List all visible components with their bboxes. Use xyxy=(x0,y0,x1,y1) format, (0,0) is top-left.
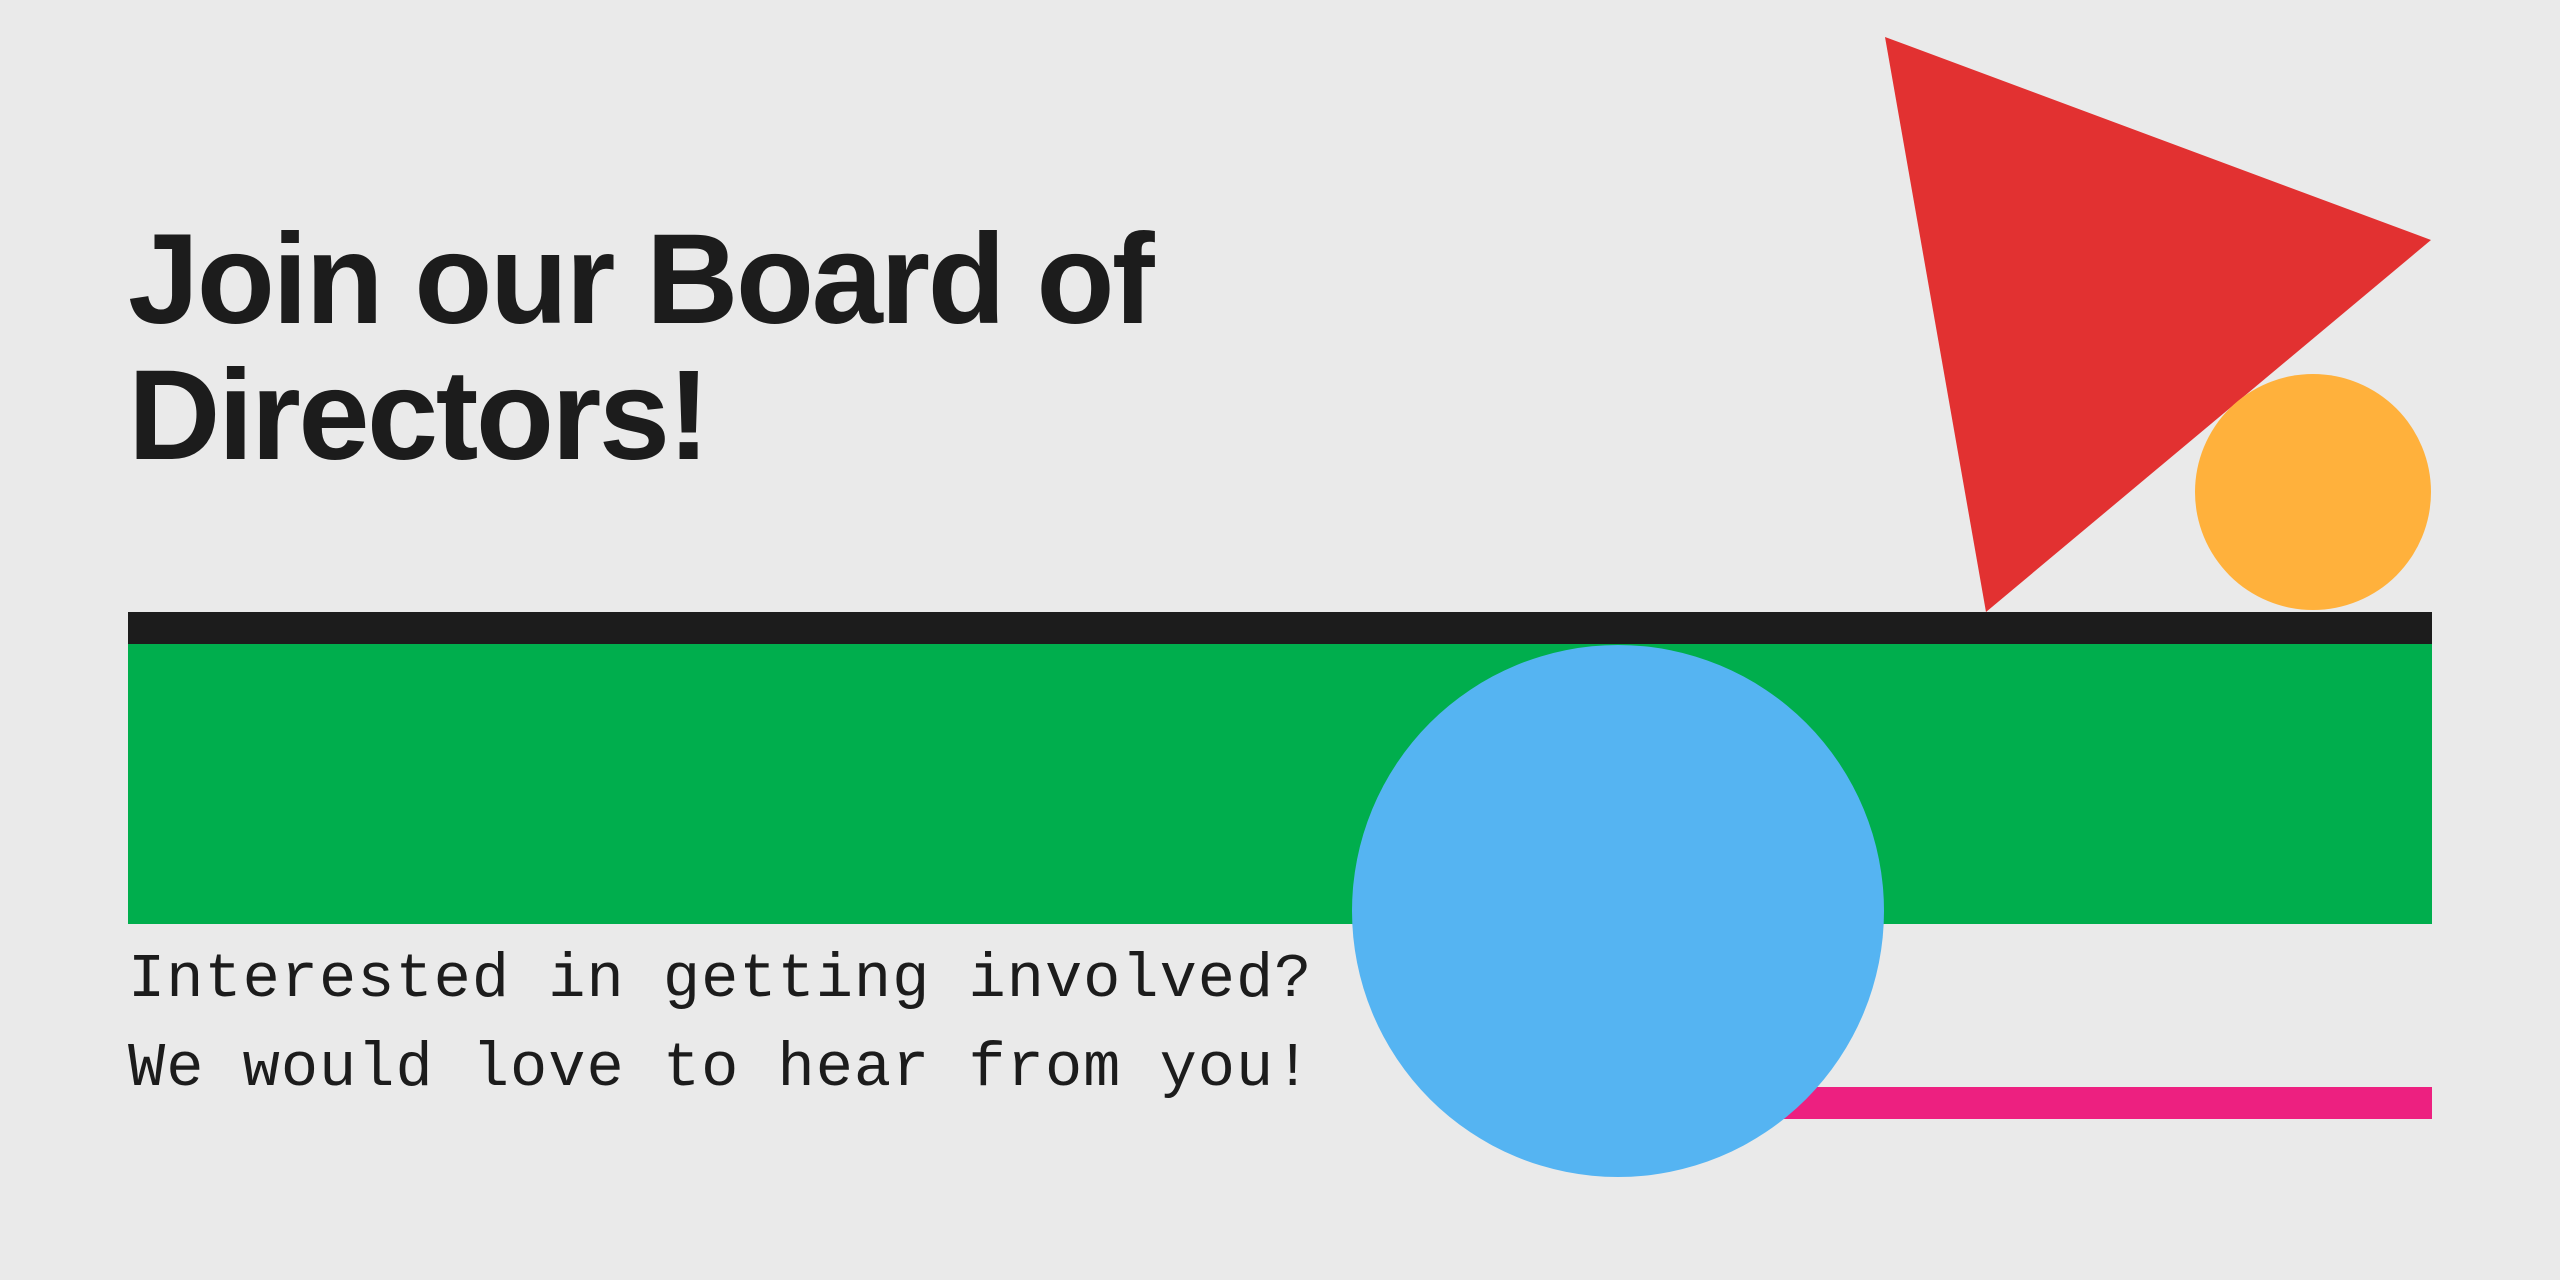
poster-canvas: Join our Board of Directors! Interested … xyxy=(0,0,2560,1280)
subtext-line-2: We would love to hear from you! xyxy=(128,1031,1928,1108)
page-title: Join our Board of Directors! xyxy=(128,212,1728,483)
black-divider-bar xyxy=(128,612,2432,644)
subtext-block: Interested in getting involved? We would… xyxy=(128,942,1928,1108)
orange-circle-icon xyxy=(2195,374,2431,610)
green-bar xyxy=(128,644,2432,924)
subtext-line-1: Interested in getting involved? xyxy=(128,942,1928,1019)
